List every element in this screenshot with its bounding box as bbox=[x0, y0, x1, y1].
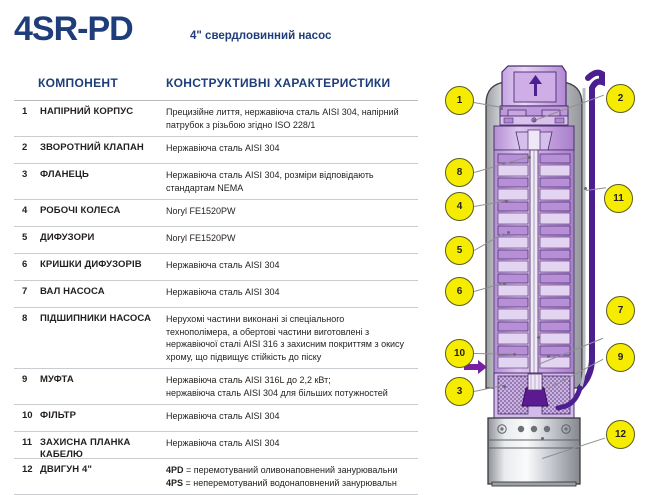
row-component-name: РОБОЧІ КОЛЕСА bbox=[40, 205, 164, 217]
callout-7[interactable]: 7 bbox=[606, 296, 635, 325]
row-characteristics: Нержавіюча сталь AISI 304 bbox=[166, 142, 442, 155]
leader-dot-4 bbox=[505, 200, 508, 203]
row-number: 6 bbox=[22, 259, 36, 270]
row-number: 7 bbox=[22, 286, 36, 297]
callout-5[interactable]: 5 bbox=[445, 236, 474, 265]
callout-10[interactable]: 10 bbox=[445, 339, 474, 368]
leader-dot-7 bbox=[537, 336, 540, 339]
row-characteristics: 4PD = перемотуваний оливонаповнений зану… bbox=[166, 464, 442, 489]
leader-dot-12 bbox=[541, 437, 544, 440]
leader-dot-8 bbox=[528, 156, 531, 159]
leader-dot-11 bbox=[584, 187, 587, 190]
table-row: 5ДИФУЗОРИNoryl FE1520PW bbox=[0, 227, 432, 253]
leader-dot-5 bbox=[507, 231, 510, 234]
callout-4[interactable]: 4 bbox=[445, 192, 474, 221]
callout-11[interactable]: 11 bbox=[604, 184, 633, 213]
row-characteristics: Нержавіюча сталь AISI 304, розміри відпо… bbox=[166, 169, 442, 194]
table-row: 2ЗВОРОТНИЙ КЛАПАННержавіюча сталь AISI 3… bbox=[0, 137, 432, 163]
row-component-name: ЗВОРОТНИЙ КЛАПАН bbox=[40, 142, 164, 154]
leader-dot-9 bbox=[547, 355, 550, 358]
row-characteristics: Нерухомі частини виконані зі спеціальног… bbox=[166, 313, 442, 363]
row-number: 3 bbox=[22, 169, 36, 180]
table-row: 11ЗАХИСНА ПЛАНКА КАБЕЛЮНержавіюча сталь … bbox=[0, 432, 432, 458]
row-number: 5 bbox=[22, 232, 36, 243]
row-characteristics: Прецизійне лиття, нержавіюча сталь AISI … bbox=[166, 106, 442, 131]
table-row: 9МУФТАНержавіюча сталь AISI 316L до 2,2 … bbox=[0, 369, 432, 404]
row-component-name: ВАЛ НАСОСА bbox=[40, 286, 164, 298]
callout-3[interactable]: 3 bbox=[445, 377, 474, 406]
row-component-name: ДИФУЗОРИ bbox=[40, 232, 164, 244]
leader-dot-1 bbox=[500, 107, 503, 110]
specification-table: КОМПОНЕНТ КОНСТРУКТИВНІ ХАРАКТЕРИСТИКИ 1… bbox=[0, 72, 432, 495]
row-characteristics: Noryl FE1520PW bbox=[166, 205, 442, 218]
leader-dot-2 bbox=[533, 119, 536, 122]
leader-dot-6 bbox=[503, 282, 506, 285]
column-header-characteristics: КОНСТРУКТИВНІ ХАРАКТЕРИСТИКИ bbox=[166, 76, 390, 90]
row-characteristics: Нержавіюча сталь AISI 304 bbox=[166, 286, 442, 299]
row-component-name: МУФТА bbox=[40, 374, 164, 386]
row-number: 9 bbox=[22, 374, 36, 385]
callout-9[interactable]: 9 bbox=[606, 343, 635, 372]
row-component-name: КРИШКИ ДИФУЗОРІВ bbox=[40, 259, 164, 271]
row-number: 8 bbox=[22, 313, 36, 324]
table-row: 8ПІДШИПНИКИ НАСОСАНерухомі частини викон… bbox=[0, 308, 432, 368]
table-row: 6КРИШКИ ДИФУЗОРІВНержавіюча сталь AISI 3… bbox=[0, 254, 432, 280]
callout-8[interactable]: 8 bbox=[445, 158, 474, 187]
page-title: 4SR-PD bbox=[14, 10, 133, 48]
page-header: 4SR-PD 4" свердловинний насос bbox=[0, 0, 650, 62]
row-characteristics: Noryl FE1520PW bbox=[166, 232, 442, 245]
row-number: 10 bbox=[22, 410, 36, 421]
row-component-name: ЗАХИСНА ПЛАНКА КАБЕЛЮ bbox=[40, 437, 164, 461]
row-component-name: ФІЛЬТР bbox=[40, 410, 164, 422]
table-row: 12ДВИГУН 4"4PD = перемотуваний оливонапо… bbox=[0, 459, 432, 494]
row-component-name: НАПІРНИЙ КОРПУС bbox=[40, 106, 164, 118]
table-row: 7ВАЛ НАСОСАНержавіюча сталь AISI 304 bbox=[0, 281, 432, 307]
row-number: 4 bbox=[22, 205, 36, 216]
callout-12[interactable]: 12 bbox=[606, 420, 635, 449]
row-characteristics: Нержавіюча сталь AISI 304 bbox=[166, 259, 442, 272]
row-number: 12 bbox=[22, 464, 36, 475]
callout-1[interactable]: 1 bbox=[445, 86, 474, 115]
pump-cutaway-diagram: 128411567109312 bbox=[430, 58, 650, 487]
row-number: 11 bbox=[22, 437, 36, 448]
row-characteristics: Нержавіюча сталь AISI 316L до 2,2 кВт; н… bbox=[166, 374, 442, 399]
callout-6[interactable]: 6 bbox=[445, 277, 474, 306]
table-row: 4РОБОЧІ КОЛЕСАNoryl FE1520PW bbox=[0, 200, 432, 226]
leader-dot-3 bbox=[503, 385, 506, 388]
callout-2[interactable]: 2 bbox=[606, 84, 635, 113]
row-characteristics: Нержавіюча сталь AISI 304 bbox=[166, 437, 442, 450]
table-row: 3ФЛАНЕЦЬНержавіюча сталь AISI 304, розмі… bbox=[0, 164, 432, 199]
row-component-name: ПІДШИПНИКИ НАСОСА bbox=[40, 313, 164, 325]
row-number: 2 bbox=[22, 142, 36, 153]
row-component-name: ФЛАНЕЦЬ bbox=[40, 169, 164, 181]
row-characteristics: Нержавіюча сталь AISI 304 bbox=[166, 410, 442, 423]
page-subtitle: 4" свердловинний насос bbox=[190, 30, 331, 42]
table-body: 1НАПІРНИЙ КОРПУСПрецизійне лиття, нержав… bbox=[0, 100, 432, 495]
table-row: 10ФІЛЬТРНержавіюча сталь AISI 304 bbox=[0, 405, 432, 431]
column-header-component: КОМПОНЕНТ bbox=[38, 76, 118, 90]
table-header-row: КОМПОНЕНТ КОНСТРУКТИВНІ ХАРАКТЕРИСТИКИ bbox=[0, 72, 432, 100]
row-component-name: ДВИГУН 4" bbox=[40, 464, 164, 476]
row-number: 1 bbox=[22, 106, 36, 117]
leader-dot-10 bbox=[513, 353, 516, 356]
table-row: 1НАПІРНИЙ КОРПУСПрецизійне лиття, нержав… bbox=[0, 101, 432, 136]
